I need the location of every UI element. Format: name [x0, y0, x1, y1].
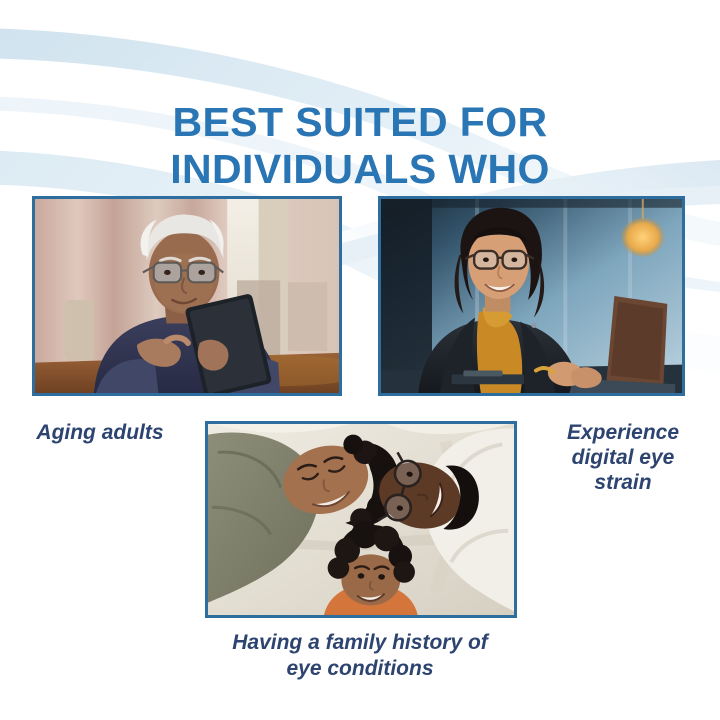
caption-digital-eye-strain: Experience digital eye strain	[526, 420, 720, 495]
caption-aging-adults: Aging adults	[0, 420, 200, 446]
page-title: BEST SUITED FOR INDIVIDUALS WHO	[0, 99, 720, 193]
photo-digital-eye-strain-image	[381, 199, 682, 393]
page-title-line-1: BEST SUITED FOR	[0, 99, 720, 146]
photo-digital-eye-strain	[378, 196, 685, 396]
caption-digital-eye-strain-line-3: strain	[526, 470, 720, 495]
photo-aging-adults	[32, 196, 342, 396]
photo-aging-adults-image	[35, 199, 339, 393]
caption-family-history: Having a family history of eye condition…	[140, 630, 580, 682]
photo-family-history-image	[208, 424, 514, 615]
photo-family-history	[205, 421, 517, 618]
caption-family-history-line-1: Having a family history of	[140, 630, 580, 656]
poster-canvas: BEST SUITED FOR INDIVIDUALS WHO	[0, 0, 720, 720]
caption-family-history-line-2: eye conditions	[140, 656, 580, 682]
page-title-line-2: INDIVIDUALS WHO	[0, 146, 720, 193]
caption-aging-adults-line-1: Aging adults	[0, 420, 200, 446]
caption-digital-eye-strain-line-1: Experience	[526, 420, 720, 445]
caption-digital-eye-strain-line-2: digital eye	[526, 445, 720, 470]
